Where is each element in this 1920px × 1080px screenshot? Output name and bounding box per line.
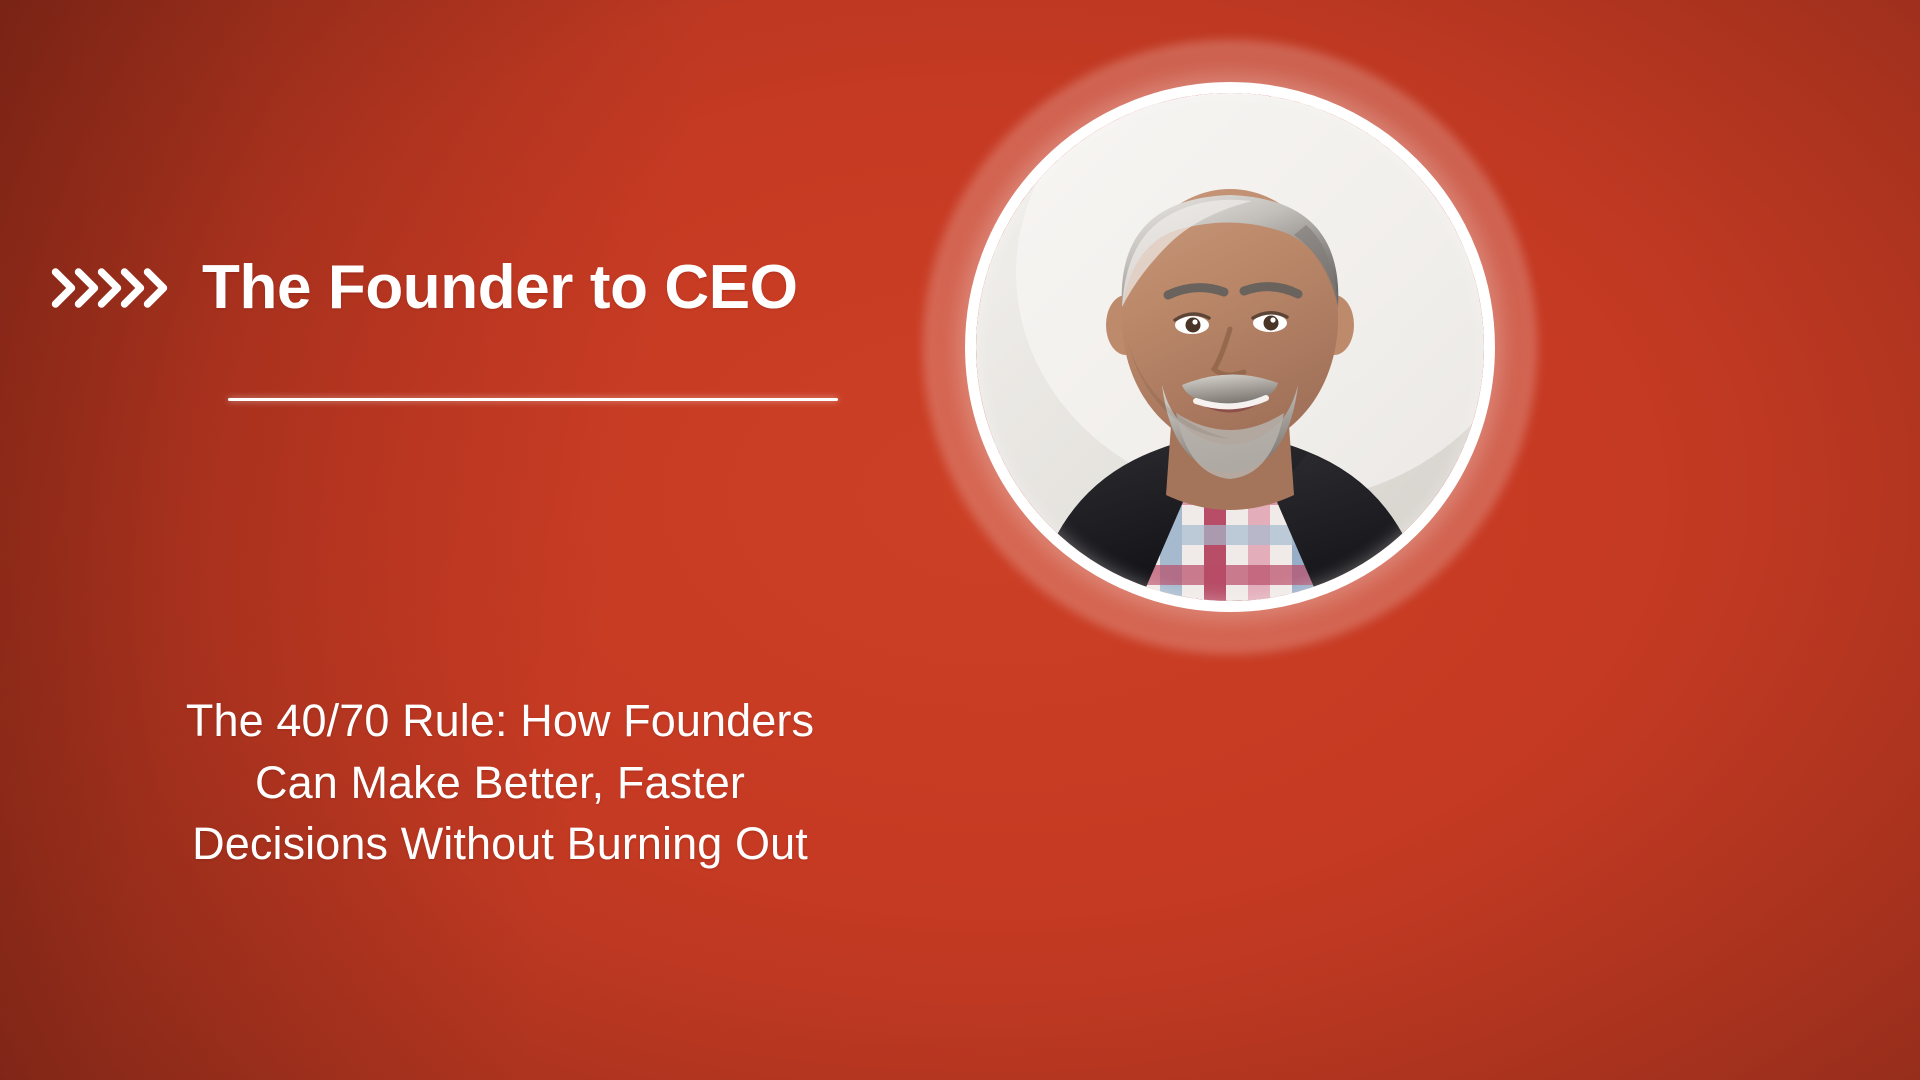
headline-line-3: Decisions Without Burning Out [100,813,900,875]
host-portrait [965,82,1495,612]
brand-lockup: The Founder to CEO [48,240,798,336]
title-divider [228,398,838,401]
headline-line-1: The 40/70 Rule: How Founders [100,690,900,752]
cover-graphic: The Founder to CEO The 40/70 Rule: How F… [0,0,1920,1080]
episode-headline: The 40/70 Rule: How Founders Can Make Be… [100,690,900,875]
page-title: The Founder to CEO [202,257,798,319]
double-chevron-right-icon [48,265,172,311]
portrait-ring [965,82,1495,612]
headline-line-2: Can Make Better, Faster [100,752,900,814]
text-column: The Founder to CEO The 40/70 Rule: How F… [0,0,1000,1080]
